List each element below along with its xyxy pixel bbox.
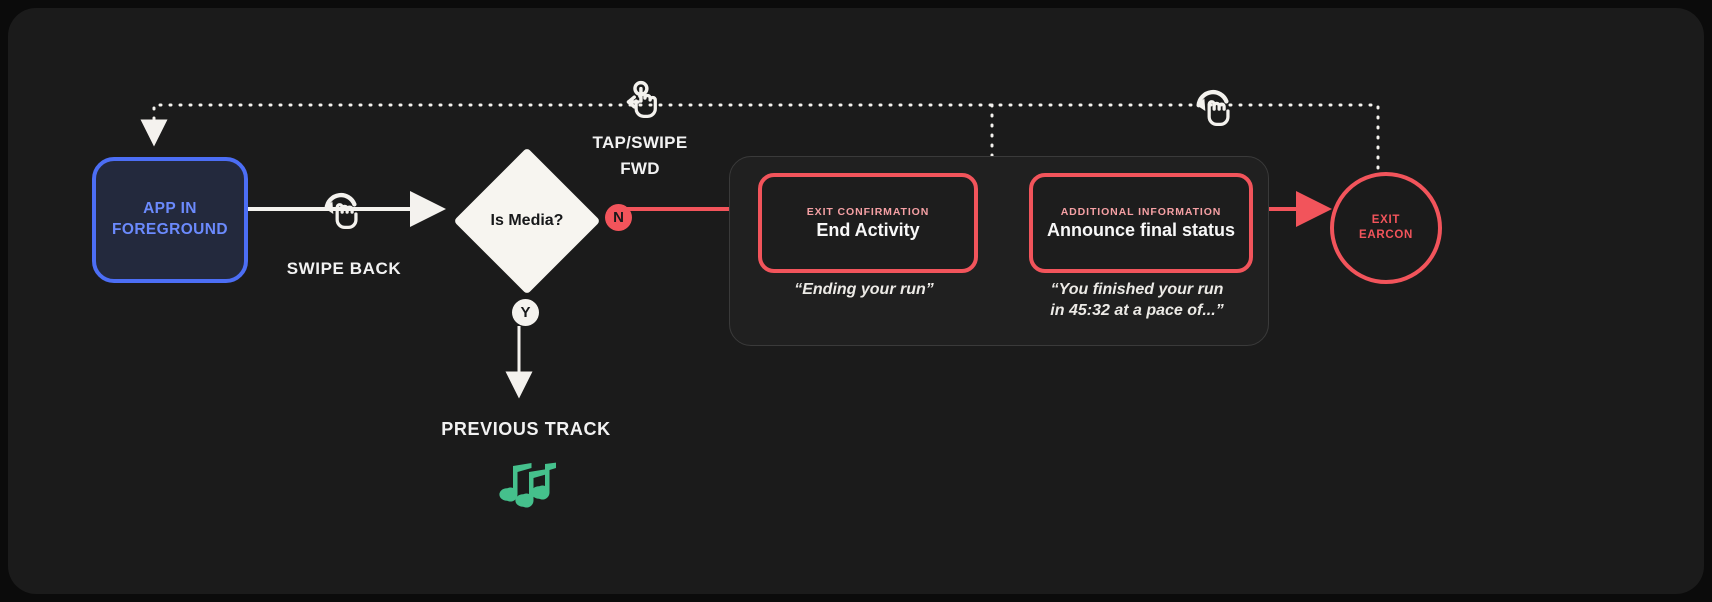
card-exit-title: End Activity xyxy=(816,220,919,241)
card-exit-confirmation[interactable]: EXIT CONFIRMATION End Activity xyxy=(758,173,978,273)
music-notes-icon xyxy=(496,456,556,514)
diagram-canvas: APP IN FOREGROUND SWIPE BACK TAP/SWIPE F… xyxy=(0,0,1712,602)
quote-exit-confirmation: “Ending your run” xyxy=(756,280,972,301)
decision-label: Is Media? xyxy=(454,138,600,304)
card-info-title: Announce final status xyxy=(1047,220,1235,241)
node-exit-earcon[interactable]: EXIT EARCON xyxy=(1330,172,1442,284)
branch-badge-yes: Y xyxy=(512,299,539,326)
swipe-back-gesture-icon xyxy=(318,191,364,237)
app-foreground-label: APP IN FOREGROUND xyxy=(112,199,228,241)
node-app-in-foreground[interactable]: APP IN FOREGROUND xyxy=(92,157,248,283)
tap-gesture-icon xyxy=(616,78,662,124)
caption-swipe-back: SWIPE BACK xyxy=(254,259,434,279)
card-info-eyebrow: ADDITIONAL INFORMATION xyxy=(1061,206,1222,218)
branch-badge-no: N xyxy=(605,204,632,231)
exit-earcon-label: EXIT EARCON xyxy=(1359,213,1413,243)
swipe-forward-gesture-icon xyxy=(1190,88,1236,134)
card-additional-information[interactable]: ADDITIONAL INFORMATION Announce final st… xyxy=(1029,173,1253,273)
flowchart-surface: APP IN FOREGROUND SWIPE BACK TAP/SWIPE F… xyxy=(8,8,1704,594)
caption-previous-track: PREVIOUS TRACK xyxy=(428,419,624,440)
node-decision-is-media[interactable]: Is Media? xyxy=(454,138,600,304)
card-exit-eyebrow: EXIT CONFIRMATION xyxy=(807,206,929,218)
quote-additional-information: “You finished your run in 45:32 at a pac… xyxy=(1023,280,1251,322)
